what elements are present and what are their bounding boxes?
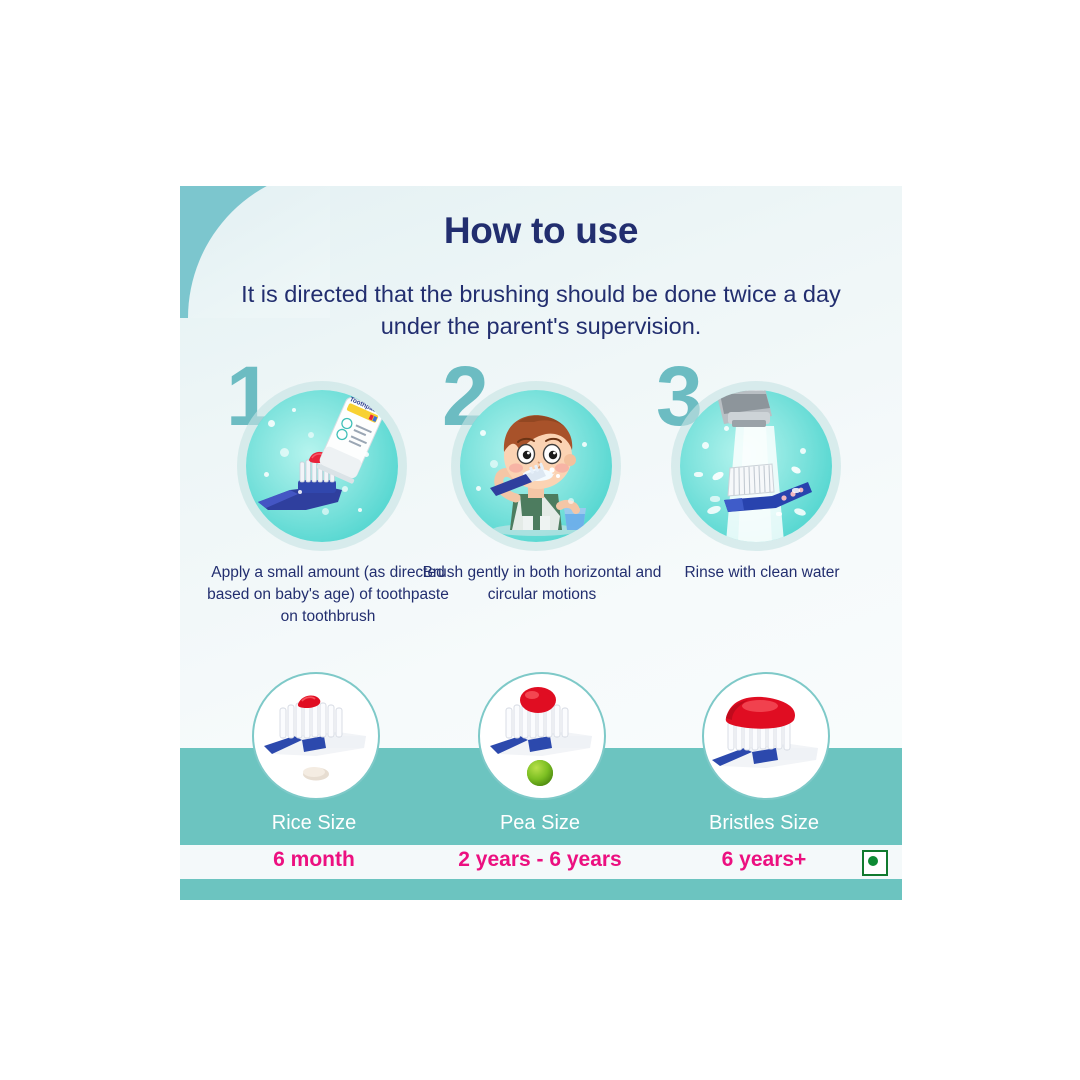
vegetarian-mark-dot xyxy=(868,856,878,866)
page-subtitle: It is directed that the brushing should … xyxy=(230,278,852,342)
sizes-row: Rice Size 6 month xyxy=(180,672,902,882)
size-label-bristles: Bristles Size xyxy=(652,812,876,835)
toothbrush-rice-size-paste-icon xyxy=(252,672,380,800)
size-age-bristles: 6 years+ xyxy=(652,848,876,872)
step-caption-2: Brush gently in both horizontal and circ… xyxy=(416,562,668,606)
size-label-rice: Rice Size xyxy=(202,812,426,835)
faucet-rinsing-toothbrush-icon xyxy=(680,390,832,542)
steps-row: 1 xyxy=(180,366,902,656)
child-brushing-teeth-icon xyxy=(460,390,612,542)
how-to-use-card: How to use It is directed that the brush… xyxy=(180,186,902,900)
size-age-pea: 2 years - 6 years xyxy=(428,848,652,872)
toothpaste-tube-over-toothbrush-icon: Toothpaste xyxy=(246,390,398,542)
toothbrush-pea-size-paste-icon xyxy=(478,672,606,800)
size-label-pea: Pea Size xyxy=(428,812,652,835)
vegetarian-mark-icon xyxy=(862,850,888,876)
toothbrush-full-bristles-paste-icon xyxy=(702,672,830,800)
page-title: How to use xyxy=(180,210,902,252)
teal-band-bottom xyxy=(180,879,902,900)
size-age-rice: 6 month xyxy=(202,848,426,872)
step-caption-3: Rinse with clean water xyxy=(636,562,888,584)
